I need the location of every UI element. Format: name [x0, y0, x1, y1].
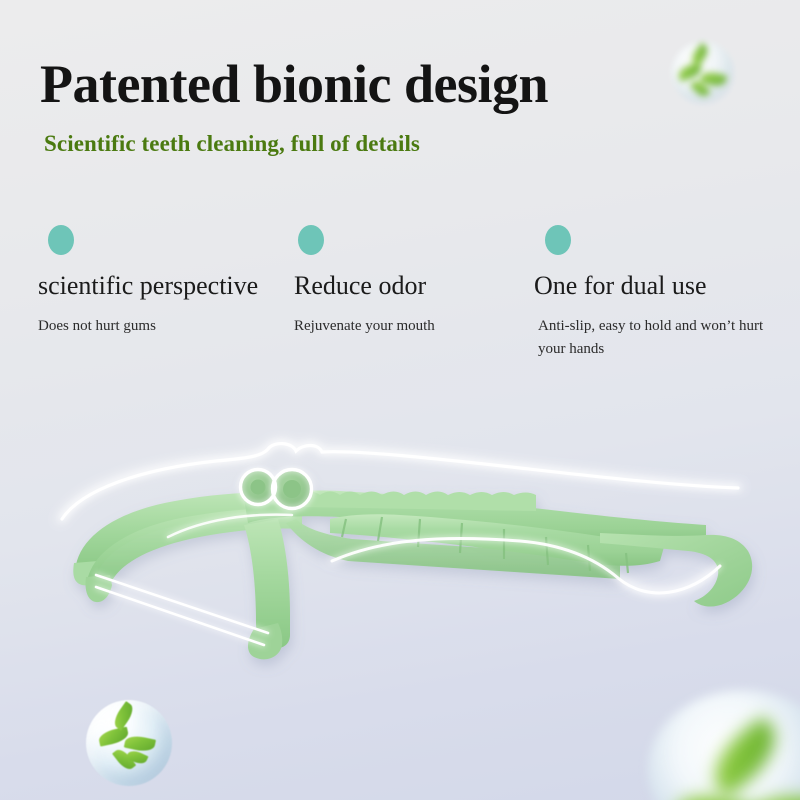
- croc-tail-pick: [600, 533, 752, 607]
- feature-description: Anti-slip, easy to hold and won’t hurt y…: [538, 315, 769, 362]
- floss-threads: [96, 575, 268, 645]
- bullet-dot-icon: [545, 225, 571, 255]
- mint-leaf-bubble-top-right: [672, 42, 734, 104]
- feature-item-reduce-odor: Reduce odor Rejuvenate your mouth: [296, 225, 526, 338]
- product-image-dental-floss-pick: [0, 415, 800, 705]
- feature-list: scientific perspective Does not hurt gum…: [0, 225, 800, 375]
- leaf-icon: [671, 782, 767, 800]
- leaf-icon: [112, 746, 136, 772]
- feature-title: One for dual use: [534, 272, 769, 301]
- leaf-icon: [700, 716, 789, 798]
- feature-title: Reduce odor: [294, 272, 526, 301]
- leaf-icon: [677, 62, 704, 82]
- croc-eye-left-pupil: [251, 480, 266, 495]
- leaf-icon: [126, 748, 149, 766]
- leaf-icon: [688, 43, 711, 68]
- mint-leaf-bubble-bottom-right: [648, 690, 800, 800]
- floss-thread: [96, 587, 264, 645]
- mint-leaf-bubble-bottom-left: [86, 700, 172, 786]
- feature-item-one-for-dual-use: One for dual use Anti-slip, easy to hold…: [534, 225, 769, 361]
- mint-leaf-cluster: [672, 42, 734, 104]
- leaf-icon: [743, 789, 800, 800]
- bullet-dot-icon: [298, 225, 324, 255]
- floss-thread: [96, 575, 268, 633]
- page-title: Patented bionic design: [40, 56, 548, 113]
- page-subtitle: Scientific teeth cleaning, full of detai…: [44, 131, 420, 157]
- feature-item-scientific-perspective: scientific perspective Does not hurt gum…: [38, 225, 288, 338]
- bullet-dot-icon: [48, 225, 74, 255]
- leaf-icon: [124, 734, 156, 754]
- feature-description: Rejuvenate your mouth: [294, 315, 526, 338]
- leaf-icon: [690, 78, 711, 99]
- leaf-icon: [97, 727, 129, 747]
- feature-description: Does not hurt gums: [38, 315, 288, 338]
- croc-eye-right-pupil: [283, 480, 301, 498]
- leaf-icon: [700, 70, 727, 89]
- feature-title: scientific perspective: [38, 272, 288, 301]
- leaf-icon: [111, 701, 137, 731]
